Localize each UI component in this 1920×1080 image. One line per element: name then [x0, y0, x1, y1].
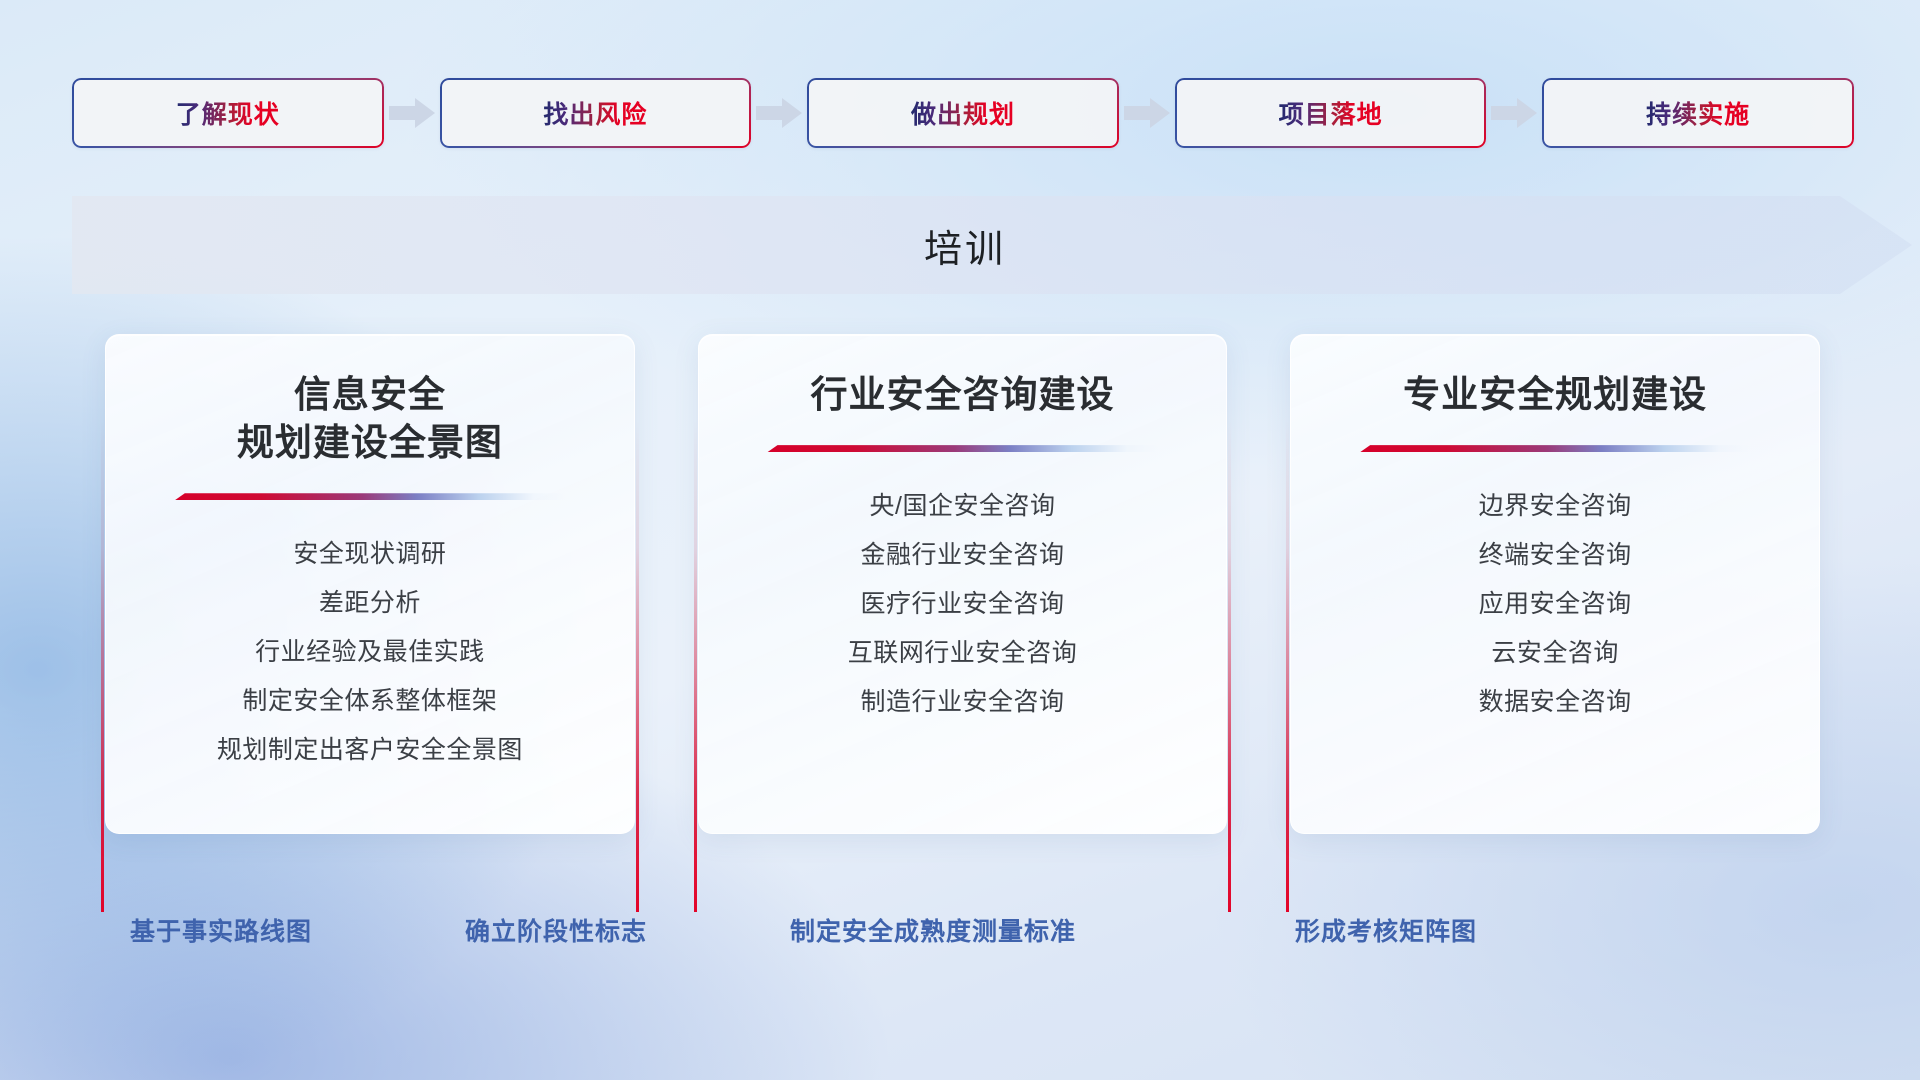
- card-divider-3: [1360, 445, 1750, 452]
- step-label-1: 了解现状: [176, 95, 280, 131]
- card-accent-line-left-3: [1286, 420, 1289, 912]
- step-box-2[interactable]: 找出风险: [440, 78, 752, 148]
- footer-label-3: 制定安全成熟度测量标准: [790, 912, 1076, 948]
- list-item: 边界安全咨询: [1479, 482, 1632, 531]
- step-box-5[interactable]: 持续实施: [1542, 78, 1854, 148]
- card-list-3: 边界安全咨询 终端安全咨询 应用安全咨询 云安全咨询 数据安全咨询: [1479, 482, 1632, 727]
- card-wrap-1: 信息安全 规划建设全景图 安全现状调研 差距分析 行业经验及最佳实践 制定安全体…: [105, 334, 635, 874]
- capability-card-1[interactable]: 信息安全 规划建设全景图 安全现状调研 差距分析 行业经验及最佳实践 制定安全体…: [105, 334, 635, 834]
- footer-label-2: 确立阶段性标志: [465, 912, 647, 948]
- list-item: 应用安全咨询: [1479, 580, 1632, 629]
- list-item: 医疗行业安全咨询: [848, 580, 1078, 629]
- capability-card-2[interactable]: 行业安全咨询建设 央/国企安全咨询 金融行业安全咨询 医疗行业安全咨询 互联网行…: [698, 334, 1228, 834]
- step-connector-arrow-4: [1486, 96, 1542, 130]
- list-item: 互联网行业安全咨询: [848, 629, 1078, 678]
- step-box-4[interactable]: 项目落地: [1175, 78, 1487, 148]
- list-item: 制造行业安全咨询: [848, 678, 1078, 727]
- list-item: 规划制定出客户安全全景图: [217, 726, 523, 775]
- list-item: 金融行业安全咨询: [848, 531, 1078, 580]
- list-item: 行业经验及最佳实践: [217, 628, 523, 677]
- step-label-2: 找出风险: [543, 95, 647, 131]
- step-label-5: 持续实施: [1646, 95, 1750, 131]
- list-item: 云安全咨询: [1479, 629, 1632, 678]
- footer-label-1: 基于事实路线图: [130, 912, 312, 948]
- card-list-2: 央/国企安全咨询 金融行业安全咨询 医疗行业安全咨询 互联网行业安全咨询 制造行…: [848, 482, 1078, 727]
- step-connector-arrow-2: [751, 96, 807, 130]
- list-item: 终端安全咨询: [1479, 531, 1632, 580]
- card-wrap-2: 行业安全咨询建设 央/国企安全咨询 金融行业安全咨询 医疗行业安全咨询 互联网行…: [698, 334, 1228, 874]
- step-label-3: 做出规划: [911, 95, 1015, 131]
- slide-root: 了解现状 找出风险 做出规划 项目落地: [0, 0, 1920, 1080]
- step-box-1[interactable]: 了解现状: [72, 78, 384, 148]
- training-banner: 培训: [72, 196, 1912, 294]
- list-item: 安全现状调研: [217, 530, 523, 579]
- step-label-4: 项目落地: [1279, 95, 1383, 131]
- card-divider-1: [175, 493, 565, 500]
- step-connector-arrow-3: [1119, 96, 1175, 130]
- card-accent-line-left-1: [101, 420, 104, 912]
- step-connector-arrow-1: [384, 96, 440, 130]
- list-item: 差距分析: [217, 579, 523, 628]
- list-item: 制定安全体系整体框架: [217, 677, 523, 726]
- card-title-1: 信息安全 规划建设全景图: [237, 371, 503, 467]
- list-item: 央/国企安全咨询: [848, 482, 1078, 531]
- footer-label-4: 形成考核矩阵图: [1295, 912, 1477, 948]
- card-accent-line-right-1: [636, 420, 639, 912]
- capability-cards-row: 信息安全 规划建设全景图 安全现状调研 差距分析 行业经验及最佳实践 制定安全体…: [105, 334, 1820, 874]
- step-box-3[interactable]: 做出规划: [807, 78, 1119, 148]
- card-divider-2: [767, 445, 1157, 452]
- card-wrap-3: 专业安全规划建设 边界安全咨询 终端安全咨询 应用安全咨询 云安全咨询 数据安全…: [1290, 334, 1820, 874]
- list-item: 数据安全咨询: [1479, 678, 1632, 727]
- card-title-3: 专业安全规划建设: [1403, 371, 1707, 419]
- training-banner-title: 培训: [72, 196, 1912, 294]
- card-accent-line-right-2: [1228, 420, 1231, 912]
- card-list-1: 安全现状调研 差距分析 行业经验及最佳实践 制定安全体系整体框架 规划制定出客户…: [217, 530, 523, 775]
- card-accent-line-left-2: [694, 420, 697, 912]
- card-title-2: 行业安全咨询建设: [811, 371, 1115, 419]
- capability-card-3[interactable]: 专业安全规划建设 边界安全咨询 终端安全咨询 应用安全咨询 云安全咨询 数据安全…: [1290, 334, 1820, 834]
- process-step-row: 了解现状 找出风险 做出规划 项目落地: [72, 78, 1854, 148]
- footer-label-row: 基于事实路线图 确立阶段性标志 制定安全成熟度测量标准 形成考核矩阵图: [0, 912, 1920, 958]
